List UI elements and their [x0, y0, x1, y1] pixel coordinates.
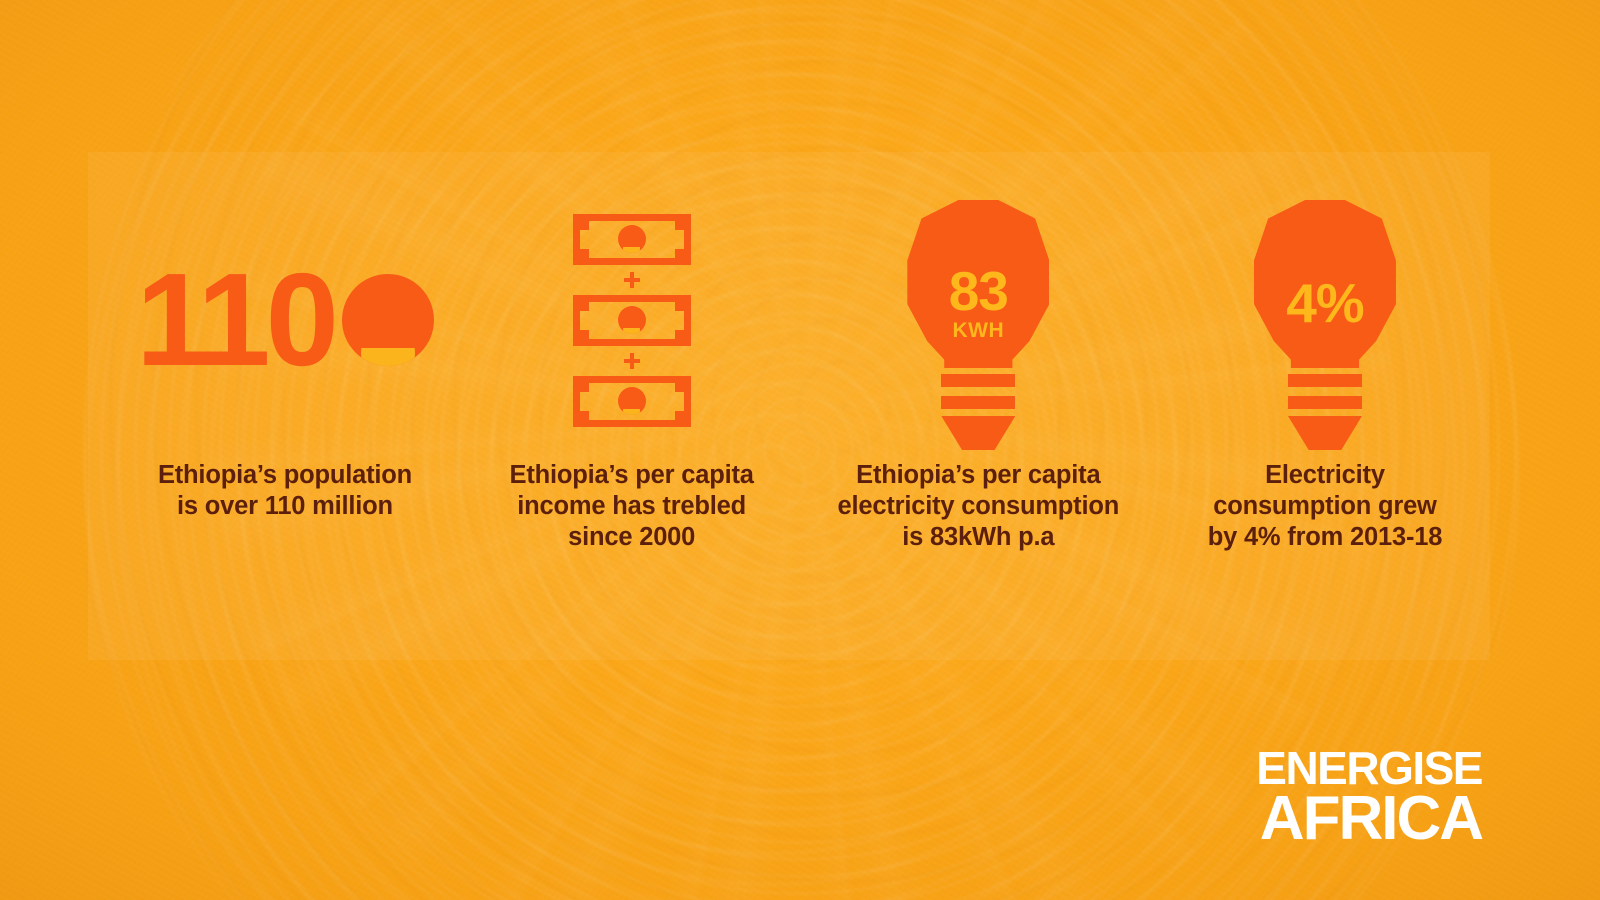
banknote-corner — [580, 383, 589, 392]
plus-icon — [622, 351, 642, 371]
banknote-corner — [580, 330, 589, 339]
banknote-smiley-mouth-mask — [623, 321, 640, 328]
stat-caption-population: Ethiopia’s population is over 110 millio… — [158, 460, 412, 522]
banknote-corner — [675, 221, 684, 230]
lightbulb-glass — [907, 200, 1049, 368]
banknote-corner — [675, 302, 684, 311]
banknote-corner — [675, 330, 684, 339]
banknote-corner — [580, 249, 589, 258]
banknote-icon — [573, 214, 691, 265]
banknote-smiley-icon — [618, 387, 646, 415]
lightbulb-icon: 83 KWH — [903, 200, 1053, 440]
lightbulb-icon: 4% — [1250, 200, 1400, 440]
population-value: 110 — [136, 266, 334, 374]
stat-card-consumption-growth: 4% Electricity consumption grew by 4% fr… — [1160, 190, 1490, 553]
brand-logo-line-2: AFRICA — [1256, 790, 1482, 848]
lightbulb-screw-ring — [1288, 374, 1362, 387]
lightbulb-base — [1288, 416, 1362, 450]
banknote-corner — [675, 249, 684, 258]
stat-visual-population: 110 — [136, 190, 434, 450]
stat-visual-per-capita-electricity: 83 KWH — [903, 190, 1053, 450]
banknote-corner — [580, 302, 589, 311]
lightbulb-screw-ring — [1288, 396, 1362, 409]
lightbulb-screw-ring — [941, 396, 1015, 409]
stat-visual-consumption-growth: 4% — [1250, 190, 1400, 450]
stats-row: 110 Ethiopia’s population is over 110 mi… — [120, 190, 1490, 590]
stat-caption-consumption-growth: Electricity consumption grew by 4% from … — [1208, 460, 1443, 553]
banknote-icon — [573, 295, 691, 346]
stat-visual-per-capita-income — [573, 190, 691, 450]
stat-card-per-capita-electricity: 83 KWH Ethiopia’s per capita electricity… — [813, 190, 1143, 553]
lightbulb-base — [941, 416, 1015, 450]
smiley-mouth-mask — [361, 326, 415, 348]
banknote-smiley-icon — [618, 225, 646, 253]
lightbulb-glass — [1254, 200, 1396, 368]
banknote-stack-icon — [573, 214, 691, 427]
smiley-face-icon — [342, 274, 434, 366]
lightbulb-screw-ring — [941, 374, 1015, 387]
stat-card-per-capita-income: Ethiopia’s per capita income has trebled… — [467, 190, 797, 553]
banknote-smiley-mouth-mask — [623, 240, 640, 247]
banknote-corner — [580, 221, 589, 230]
banknote-corner — [675, 411, 684, 420]
banknote-icon — [573, 376, 691, 427]
banknote-smiley-icon — [618, 306, 646, 334]
infographic-canvas: 110 Ethiopia’s population is over 110 mi… — [0, 0, 1600, 900]
brand-logo: ENERGISE AFRICA — [1256, 747, 1482, 849]
banknote-corner — [580, 411, 589, 420]
stat-caption-per-capita-electricity: Ethiopia’s per capita electricity consum… — [837, 460, 1119, 553]
banknote-corner — [675, 383, 684, 392]
plus-icon — [622, 270, 642, 290]
stat-card-population: 110 Ethiopia’s population is over 110 mi… — [120, 190, 450, 522]
banknote-smiley-mouth-mask — [623, 402, 640, 409]
stat-caption-per-capita-income: Ethiopia’s per capita income has trebled… — [510, 460, 754, 553]
big-number-smiley-icon: 110 — [136, 266, 434, 374]
